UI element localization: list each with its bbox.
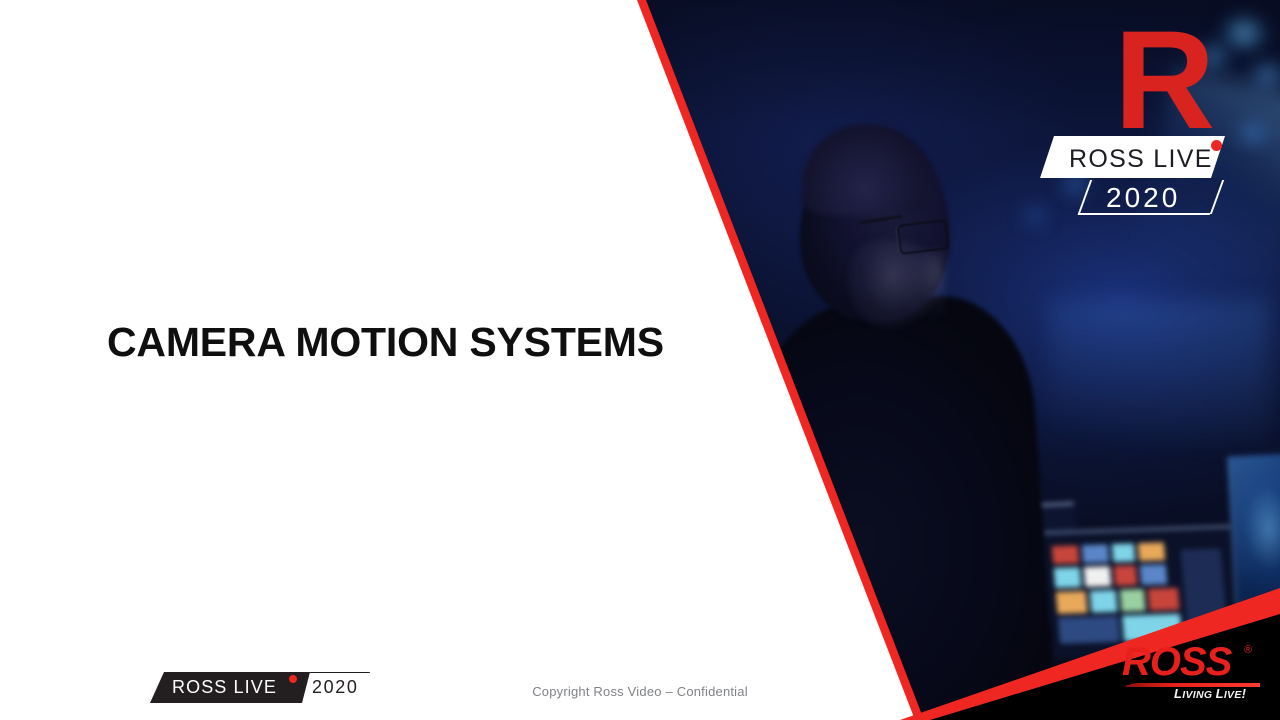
glasses-icon: [896, 219, 949, 255]
tagline-iving: IVING: [1182, 689, 1215, 701]
presentation-slide: CAMERA MOTION SYSTEMS Copyright Ross Vid…: [0, 0, 1280, 720]
person-silhouette: [727, 290, 1056, 720]
footer-copyright-text: Copyright Ross Video – Confidential: [0, 684, 748, 699]
ross-live-badge: ROSS LIVE 2020: [150, 672, 370, 703]
tagline-ive: IVE: [1224, 689, 1242, 701]
red-dot-icon: [1211, 140, 1222, 151]
ross-r-monogram: R: [1114, 10, 1211, 150]
ross-wordmark: ROSS: [1122, 642, 1231, 682]
slide-title: CAMERA MOTION SYSTEMS: [107, 319, 664, 366]
production-monitor: [1042, 525, 1243, 659]
registered-trademark-icon: ®: [1244, 644, 1252, 656]
badge-year-label: 2020: [312, 677, 358, 698]
production-monitor: [1227, 454, 1280, 642]
tagline-exclamation: !: [1242, 686, 1247, 701]
logo-year-label: 2020: [1106, 182, 1180, 214]
ross-live-2020-logo: R ROSS LIVE 2020: [1040, 14, 1240, 210]
red-dot-icon: [289, 675, 297, 683]
ross-tagline: LIVING LIVE!: [1174, 686, 1246, 701]
tagline-l1: L: [1174, 686, 1182, 701]
logo-brand-label: ROSS LIVE: [1069, 145, 1213, 174]
ross-video-logo: ROSS ® LIVING LIVE!: [1122, 642, 1272, 700]
badge-brand-label: ROSS LIVE: [172, 677, 277, 698]
tagline-l2: L: [1216, 686, 1224, 701]
